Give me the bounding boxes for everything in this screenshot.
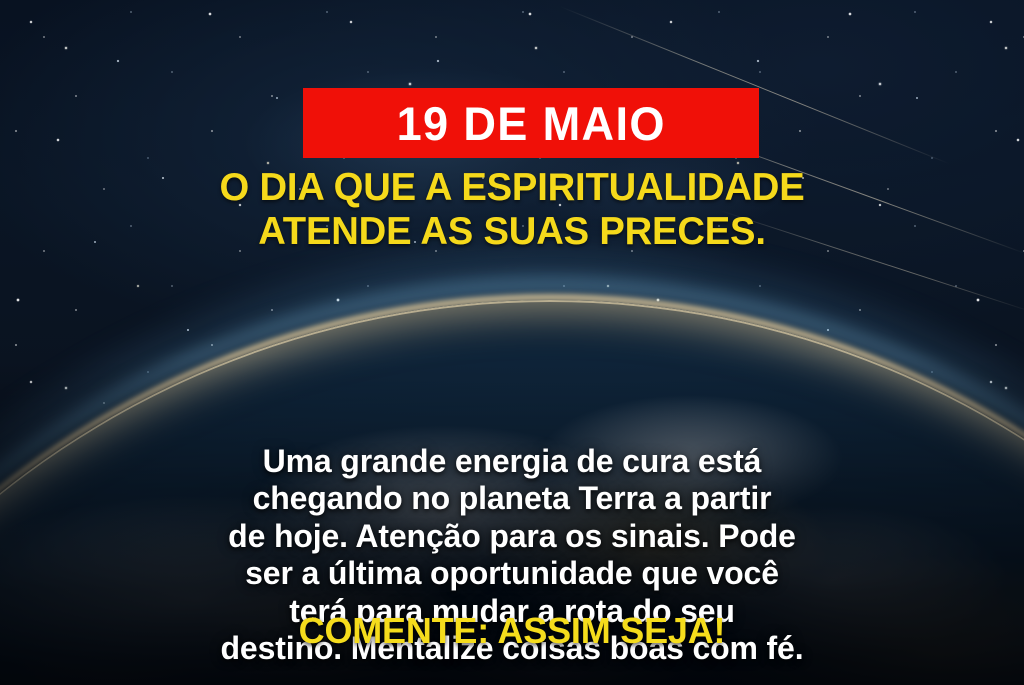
date-banner-label: 19 DE MAIO xyxy=(396,100,665,147)
call-to-action-text: COMENTE: ASSIM SEJA! xyxy=(0,611,1024,651)
poster-canvas: 19 DE MAIO O DIA QUE A ESPIRITUALIDADE A… xyxy=(0,0,1024,685)
body-line: de hoje. Atenção para os sinais. Pode xyxy=(52,518,972,555)
body-line: chegando no planeta Terra a partir xyxy=(52,480,972,517)
headline-line-2: ATENDE AS SUAS PRECES. xyxy=(55,210,968,254)
headline-line-1: O DIA QUE A ESPIRITUALIDADE xyxy=(219,166,804,209)
headline: O DIA QUE A ESPIRITUALIDADE ATENDE AS SU… xyxy=(10,166,1014,253)
body-line: ser a última oportunidade que você xyxy=(52,555,972,592)
poster-content: 19 DE MAIO O DIA QUE A ESPIRITUALIDADE A… xyxy=(0,0,1024,685)
date-banner: 19 DE MAIO xyxy=(303,88,759,158)
body-line: Uma grande energia de cura está xyxy=(52,443,972,480)
